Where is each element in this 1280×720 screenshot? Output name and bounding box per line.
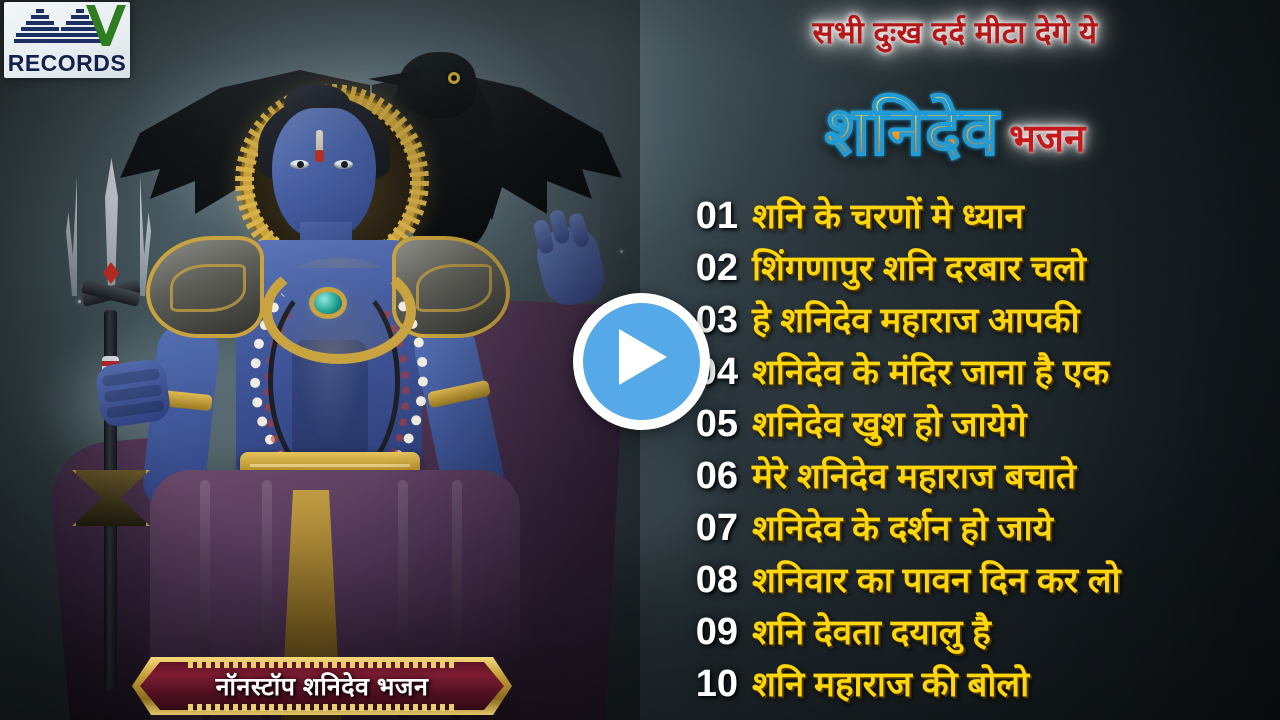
play-triangle-icon: [619, 329, 667, 385]
track-number: 07: [660, 502, 738, 554]
track-row[interactable]: 01शनि के चरणों मे ध्यान: [660, 190, 1280, 242]
track-number: 06: [660, 450, 738, 502]
logo-wordmark: RECORDS: [4, 50, 130, 76]
track-row[interactable]: 09शनि देवता दयालु है: [660, 606, 1280, 658]
title-suffix: भजन: [1009, 114, 1085, 164]
track-title: मेरे शनिदेव महाराज बचाते: [752, 451, 1076, 503]
track-row[interactable]: 06मेरे शनिदेव महाराज बचाते: [660, 450, 1280, 502]
track-row[interactable]: 10शनि महाराज की बोलो: [660, 658, 1280, 710]
kicker-text: सभी दुःख दर्द मीटा देगे ये: [630, 12, 1280, 54]
title-row: शनिदेव भजन: [630, 92, 1280, 170]
tracklist: 01शनि के चरणों मे ध्यान02शिंगणापुर शनि द…: [660, 190, 1280, 710]
track-title: शनि देवता दयालु है: [752, 607, 991, 659]
headline-block: सभी दुःख दर्द मीटा देगे ये: [630, 12, 1280, 54]
track-title: शनिदेव खुश हो जायेगे: [752, 399, 1027, 451]
track-title: शनि के चरणों मे ध्यान: [752, 191, 1024, 243]
thumbnail-canvas: RECORDS सभी दुःख दर्द मीटा देगे ये शनिदे…: [0, 0, 1280, 720]
main-title: शनिदेव: [825, 92, 999, 170]
bottom-banner: नॉनस्टॉप शनिदेव भजन: [132, 657, 512, 715]
channel-logo[interactable]: RECORDS: [4, 2, 130, 78]
track-number: 10: [660, 658, 738, 710]
track-title: शिंगणापुर शनि दरबार चलो: [752, 243, 1086, 295]
play-button[interactable]: [573, 293, 710, 430]
track-title: शनिवार का पावन दिन कर लो: [752, 555, 1121, 607]
track-row[interactable]: 07शनिदेव के दर्शन हो जाये: [660, 502, 1280, 554]
track-number: 08: [660, 554, 738, 606]
track-row[interactable]: 05शनिदेव खुश हो जायेगे: [660, 398, 1280, 450]
track-number: 01: [660, 190, 738, 242]
track-row[interactable]: 02शिंगणापुर शनि दरबार चलो: [660, 242, 1280, 294]
track-title: शनि महाराज की बोलो: [752, 659, 1029, 711]
track-title: हे शनिदेव महाराज आपकी: [752, 295, 1080, 347]
track-title: शनिदेव के मंदिर जाना है एक: [752, 347, 1109, 399]
track-row[interactable]: 03हे शनिदेव महाराज आपकी: [660, 294, 1280, 346]
track-row[interactable]: 04शनिदेव के मंदिर जाना है एक: [660, 346, 1280, 398]
logo-mark: [4, 2, 130, 46]
track-number: 09: [660, 606, 738, 658]
track-title: शनिदेव के दर्शन हो जाये: [752, 503, 1053, 555]
banner-text: नॉनस्टॉप शनिदेव भजन: [132, 657, 512, 715]
track-row[interactable]: 08शनिवार का पावन दिन कर लो: [660, 554, 1280, 606]
track-number: 02: [660, 242, 738, 294]
